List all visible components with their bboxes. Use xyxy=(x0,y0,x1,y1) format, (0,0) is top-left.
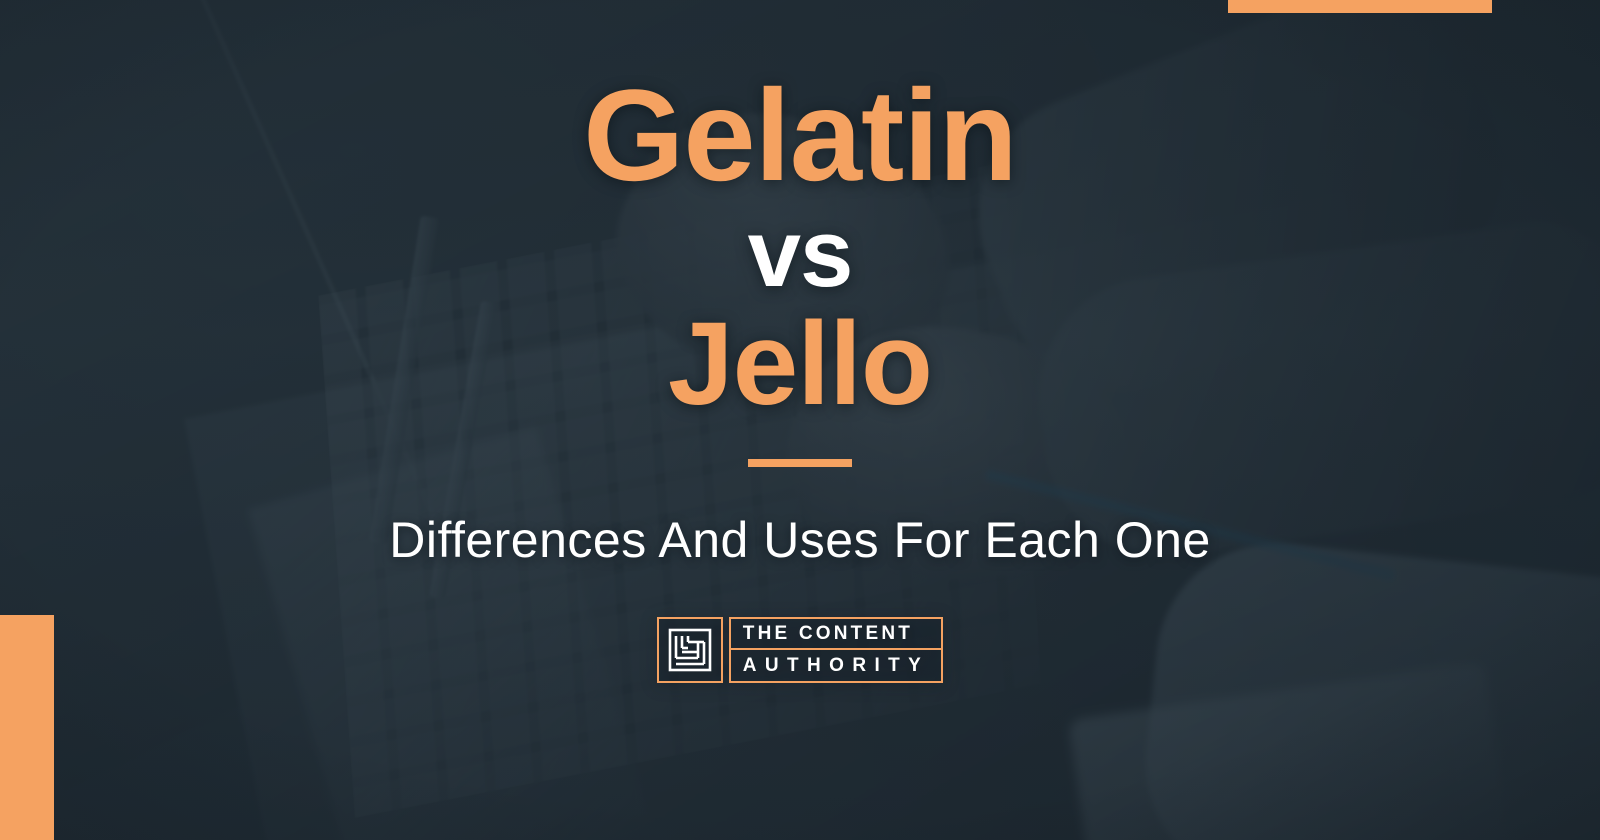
logo-wordmark-line-two: AUTHORITY xyxy=(729,650,943,683)
brand-logo[interactable]: THE CONTENT AUTHORITY xyxy=(657,617,943,683)
page-title: Gelatin vs Jello xyxy=(583,72,1017,423)
banner-content: Gelatin vs Jello Differences And Uses Fo… xyxy=(0,0,1600,840)
logo-wordmark: THE CONTENT AUTHORITY xyxy=(729,617,943,683)
logo-text-the-content: THE CONTENT xyxy=(743,624,913,643)
title-line-jello: Jello xyxy=(583,307,1017,423)
page-subtitle: Differences And Uses For Each One xyxy=(389,511,1211,569)
maze-square-mark-icon xyxy=(657,617,723,683)
logo-wordmark-line-one: THE CONTENT xyxy=(729,617,943,650)
orange-divider-rule xyxy=(748,459,852,467)
title-line-vs: vs xyxy=(583,207,1017,301)
logo-text-authority: AUTHORITY xyxy=(743,656,929,675)
hero-banner: Gelatin vs Jello Differences And Uses Fo… xyxy=(0,0,1600,840)
title-line-gelatin: Gelatin xyxy=(583,72,1017,199)
